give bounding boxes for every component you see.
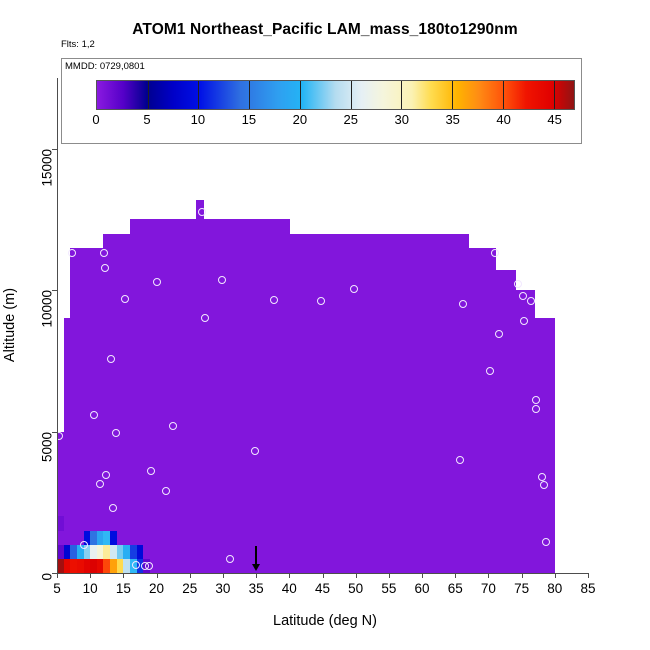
y-tick-label: 5000 [40, 432, 55, 462]
heatmap-background-cell [469, 248, 496, 573]
x-tick [123, 573, 124, 578]
y-tick-label: 10000 [40, 290, 55, 328]
sample-marker [514, 280, 522, 288]
heatmap-background-cell [289, 234, 469, 573]
x-tick [488, 573, 489, 578]
dates-annotation: MMDD: 0729,0801 [65, 61, 145, 72]
sample-marker [109, 504, 117, 512]
heatmap-background-cell [103, 234, 130, 573]
x-tick [356, 573, 357, 578]
x-tick [389, 573, 390, 578]
heatmap-background-cell [203, 219, 290, 573]
heatmap-background-cell [70, 248, 104, 573]
sample-marker [495, 330, 503, 338]
x-tick-label: 20 [149, 581, 164, 596]
x-tick-label: 40 [282, 581, 297, 596]
heatmap-plot-area [57, 78, 588, 573]
y-axis-line [57, 78, 58, 573]
x-tick [90, 573, 91, 578]
sample-marker [132, 561, 140, 569]
sample-marker [96, 480, 104, 488]
sample-marker [162, 487, 170, 495]
figure-canvas: ATOM1 Northeast_Pacific LAM_mass_180to12… [0, 0, 650, 650]
x-tick-label: 5 [53, 581, 61, 596]
heatmap-background-cell [495, 270, 516, 573]
x-tick [555, 573, 556, 578]
sample-marker [542, 538, 550, 546]
sample-marker [147, 467, 155, 475]
sample-marker [112, 429, 120, 437]
x-tick-label: 50 [348, 581, 363, 596]
x-tick-label: 45 [315, 581, 330, 596]
sample-marker [80, 541, 88, 549]
x-tick-label: 60 [415, 581, 430, 596]
y-tick-label: 15000 [40, 149, 55, 187]
sample-marker [226, 555, 234, 563]
sample-marker [519, 292, 527, 300]
sample-marker [90, 411, 98, 419]
x-tick [289, 573, 290, 578]
x-tick [588, 573, 589, 578]
x-tick [157, 573, 158, 578]
y-tick-label: 0 [40, 573, 55, 581]
heatmap-background-cell [515, 290, 536, 573]
heatmap-cell [117, 531, 124, 546]
x-tick-label: 30 [215, 581, 230, 596]
x-tick-label: 85 [580, 581, 595, 596]
x-tick-label: 55 [381, 581, 396, 596]
heatmap-cell [143, 545, 150, 560]
heatmap-background-cell [535, 318, 556, 573]
arrow-shaft [255, 546, 257, 566]
x-tick-label: 80 [547, 581, 562, 596]
y-axis-title: Altitude (m) [2, 288, 18, 362]
x-tick [455, 573, 456, 578]
sample-marker [198, 208, 206, 216]
sample-marker [486, 367, 494, 375]
x-tick [323, 573, 324, 578]
arrow-head [252, 564, 260, 571]
latitude-marker-arrow [252, 546, 260, 573]
x-tick-label: 70 [481, 581, 496, 596]
heatmap-background-cell [163, 219, 197, 573]
heatmap-background-cell [130, 219, 164, 573]
heatmap-cell [64, 516, 71, 531]
x-tick-label: 10 [83, 581, 98, 596]
x-tick [256, 573, 257, 578]
x-tick [522, 573, 523, 578]
flights-annotation: Flts: 1,2 [61, 39, 95, 50]
sample-marker [270, 296, 278, 304]
x-tick [190, 573, 191, 578]
sample-marker [153, 278, 161, 286]
x-tick-label: 75 [514, 581, 529, 596]
page-title: ATOM1 Northeast_Pacific LAM_mass_180to12… [0, 21, 650, 39]
x-tick-label: 35 [249, 581, 264, 596]
sample-marker [491, 249, 499, 257]
x-tick-label: 65 [448, 581, 463, 596]
sample-marker [456, 456, 464, 464]
x-tick-label: 15 [116, 581, 131, 596]
x-tick-label: 25 [182, 581, 197, 596]
x-tick [223, 573, 224, 578]
sample-marker [538, 473, 546, 481]
sample-marker [101, 264, 109, 272]
sample-marker [540, 481, 548, 489]
sample-marker [121, 295, 129, 303]
x-tick [422, 573, 423, 578]
x-axis-title: Latitude (deg N) [0, 613, 650, 629]
